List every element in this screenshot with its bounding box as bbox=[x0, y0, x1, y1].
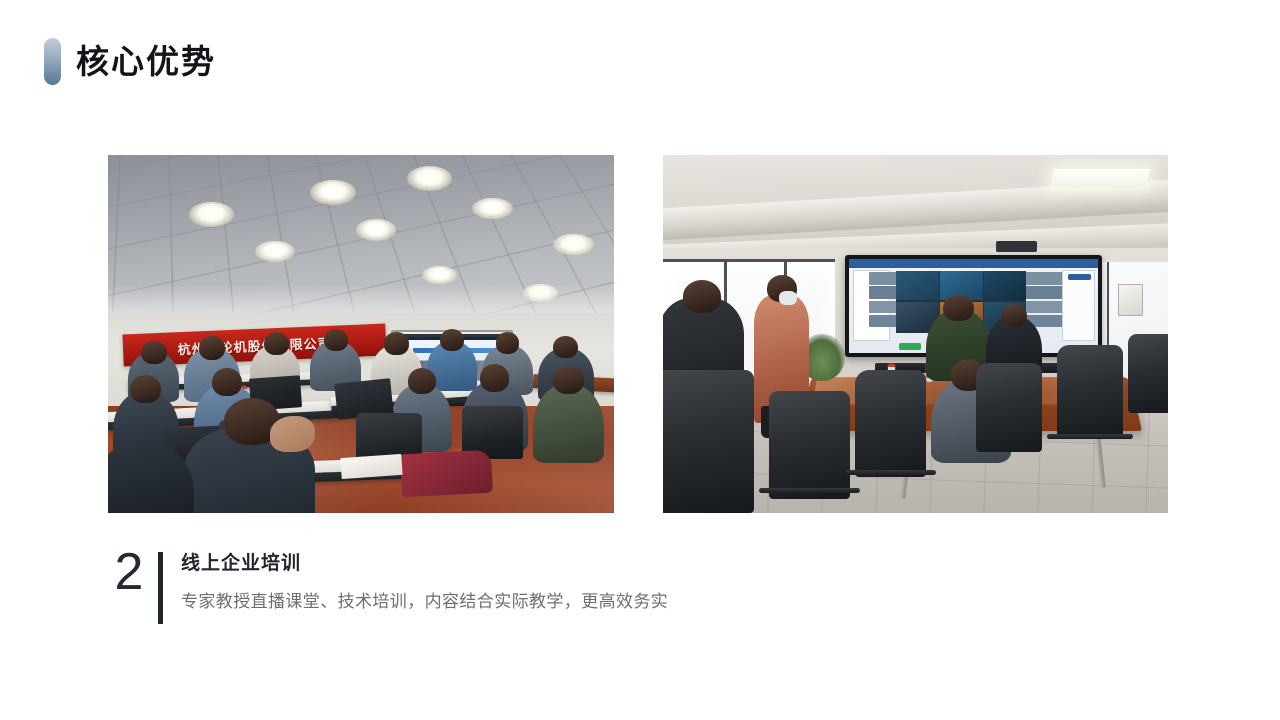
office-chair bbox=[1128, 334, 1168, 413]
attendee-head bbox=[408, 368, 436, 394]
caption-heading: 线上企业培训 bbox=[181, 552, 668, 576]
attendee-head bbox=[480, 364, 509, 391]
caption-text: 线上企业培训 专家教授直播课堂、技术培训，内容结合实际教学，更高效务实 bbox=[181, 548, 668, 613]
office-chair bbox=[663, 370, 754, 513]
face-mask bbox=[779, 291, 797, 305]
caption-body: 专家教授直播课堂、技术培训，内容结合实际教学，更高效务实 bbox=[181, 591, 668, 613]
slide-root: 核心优势 杭州汽轮机股份有限公司 bbox=[0, 0, 1280, 720]
ceiling-lamp bbox=[356, 219, 396, 240]
attendee bbox=[533, 384, 604, 463]
attendee-head bbox=[141, 341, 166, 364]
attendee-head bbox=[212, 368, 242, 396]
pill-bullet-icon bbox=[44, 38, 61, 85]
red-bag bbox=[400, 450, 493, 498]
ceiling-panel-light bbox=[1050, 169, 1150, 187]
meeting-app-titlebar bbox=[849, 259, 1099, 267]
attendee-hand bbox=[270, 416, 316, 452]
chair-base bbox=[845, 470, 936, 475]
meeting-side-button bbox=[1068, 274, 1090, 280]
attendee-head bbox=[440, 329, 464, 352]
caption-block: 2 线上企业培训 专家教授直播课堂、技术培训，内容结合实际教学，更高效务实 bbox=[100, 548, 668, 624]
item-number: 2 bbox=[100, 548, 158, 598]
wall-notice bbox=[1118, 284, 1143, 316]
paper-documents bbox=[340, 454, 402, 480]
attendee-head bbox=[264, 332, 289, 355]
ceiling-lamp bbox=[553, 234, 593, 255]
office-chair bbox=[976, 363, 1042, 453]
ceiling-lamp bbox=[189, 202, 235, 227]
attendee-head bbox=[496, 332, 519, 353]
chair-base bbox=[759, 488, 860, 493]
video-tile bbox=[984, 271, 1026, 301]
slide-header: 核心优势 bbox=[44, 38, 216, 85]
window-mullion bbox=[663, 259, 835, 262]
attendee-head bbox=[553, 336, 577, 359]
attendee-head bbox=[324, 329, 348, 352]
video-conference-photo bbox=[663, 155, 1168, 513]
person-head bbox=[943, 295, 973, 322]
ceiling-lamp bbox=[422, 266, 457, 284]
attendee-head bbox=[199, 336, 225, 360]
meeting-action-button bbox=[899, 343, 921, 350]
caption-divider bbox=[158, 552, 163, 624]
ceiling-lamp bbox=[310, 180, 356, 205]
person-head bbox=[1001, 304, 1026, 327]
attendee-head bbox=[553, 366, 583, 394]
attendee-head bbox=[130, 375, 160, 403]
attendee-head bbox=[384, 332, 408, 355]
page-title: 核心优势 bbox=[76, 45, 216, 78]
office-chair bbox=[769, 391, 850, 498]
person-head bbox=[683, 280, 721, 312]
meeting-controls-panel bbox=[1062, 270, 1094, 341]
classroom-training-photo: 杭州汽轮机股份有限公司 bbox=[108, 155, 614, 513]
video-tile bbox=[896, 271, 939, 301]
office-chair bbox=[855, 370, 926, 477]
ceiling-lamp bbox=[407, 166, 453, 191]
chair-base bbox=[1047, 434, 1133, 439]
office-chair bbox=[1057, 345, 1123, 438]
camera-bar bbox=[996, 241, 1036, 252]
